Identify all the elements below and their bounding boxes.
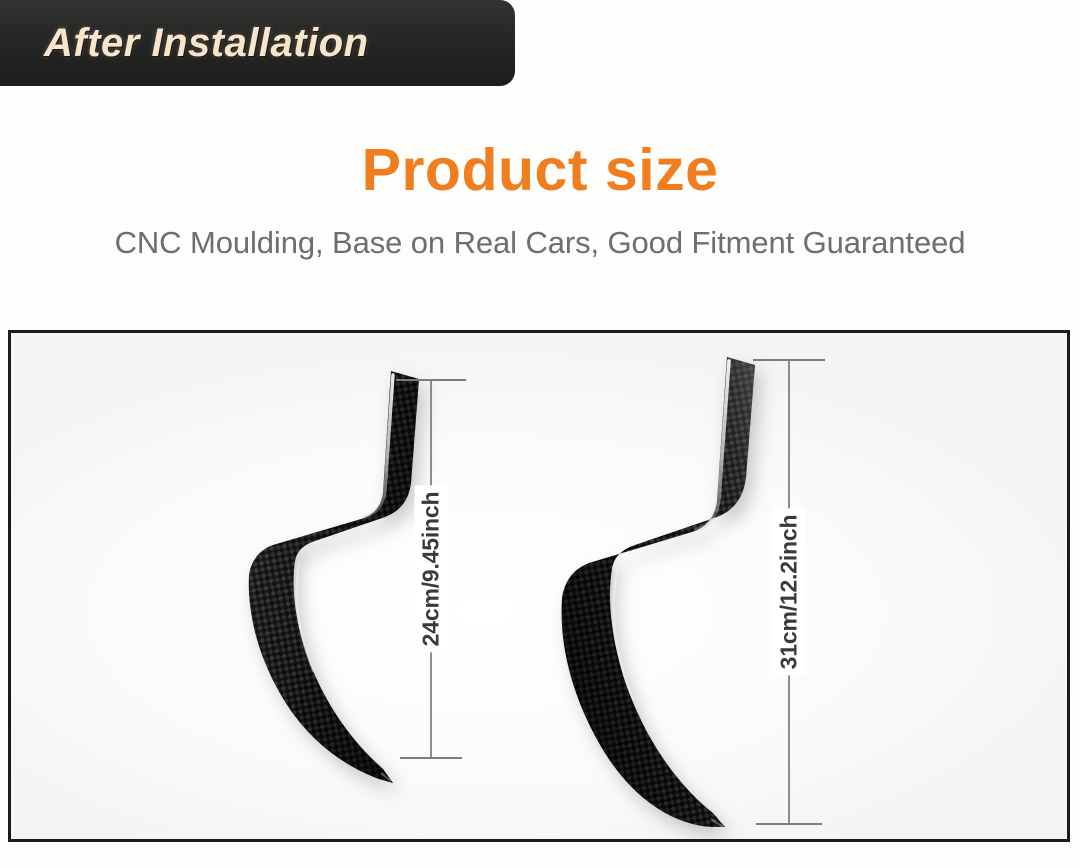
page-subtitle: CNC Moulding, Base on Real Cars, Good Fi… <box>0 226 1080 260</box>
large-fender-vent-trim <box>541 351 781 833</box>
left-dimension-label: 24cm/9.45inch <box>415 486 448 653</box>
right-dimension-label: 31cm/12.2inch <box>773 509 806 676</box>
after-installation-label: After Installation <box>0 21 369 66</box>
right-dimension: 31cm/12.2inch <box>753 359 825 825</box>
right-dimension-top-cap <box>753 359 825 361</box>
photo-background: 24cm/9.45inch 31cm/12.2inch <box>11 333 1067 839</box>
left-dimension: 24cm/9.45inch <box>396 379 466 759</box>
left-dimension-bottom-cap <box>400 757 462 759</box>
product-size-infographic: After Installation Product size CNC Moul… <box>0 0 1080 868</box>
page-title: Product size <box>0 141 1080 200</box>
right-dimension-bottom-cap <box>756 823 822 825</box>
product-photo-panel: 24cm/9.45inch 31cm/12.2inch <box>8 330 1070 842</box>
after-installation-banner: After Installation <box>0 0 515 86</box>
left-dimension-top-cap <box>396 379 466 381</box>
